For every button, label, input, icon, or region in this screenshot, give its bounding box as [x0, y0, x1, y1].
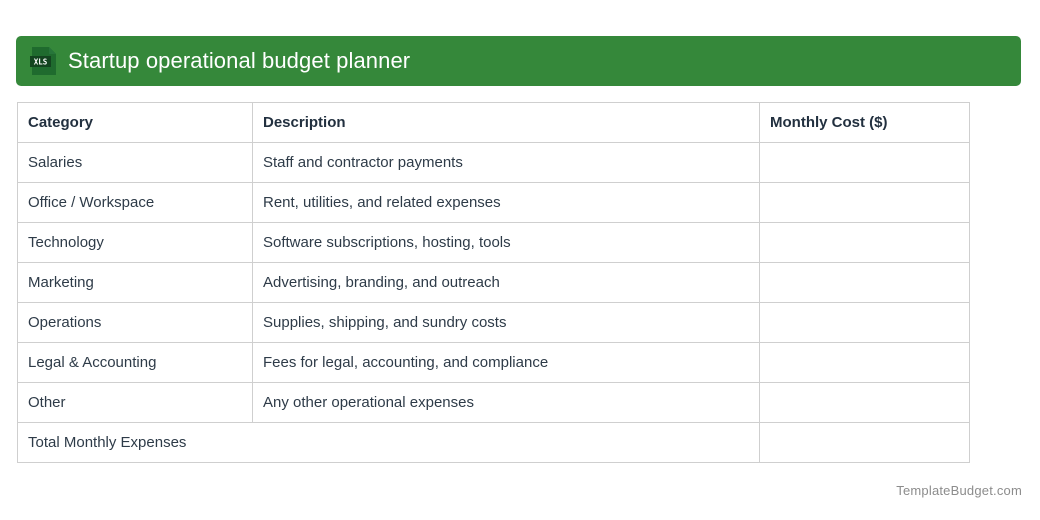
cell-description: Software subscriptions, hosting, tools [253, 223, 760, 263]
cell-category: Operations [18, 303, 253, 343]
cell-description: Fees for legal, accounting, and complian… [253, 343, 760, 383]
table-row: Operations Supplies, shipping, and sundr… [18, 303, 970, 343]
table-row: Marketing Advertising, branding, and out… [18, 263, 970, 303]
table-row: Office / Workspace Rent, utilities, and … [18, 183, 970, 223]
xls-file-icon: XLS [30, 46, 58, 76]
cell-total-label: Total Monthly Expenses [18, 423, 760, 463]
document-header-banner: XLS Startup operational budget planner [16, 36, 1021, 86]
table-header: Category Description Monthly Cost ($) [18, 103, 970, 143]
column-header-monthly-cost: Monthly Cost ($) [760, 103, 970, 143]
table-body: Salaries Staff and contractor payments O… [18, 143, 970, 463]
budget-template-page: XLS Startup operational budget planner C… [0, 0, 1040, 520]
footer-brand: TemplateBudget.com [896, 483, 1022, 498]
cell-description: Rent, utilities, and related expenses [253, 183, 760, 223]
cell-total-monthly-cost[interactable] [760, 423, 970, 463]
cell-monthly-cost[interactable] [760, 383, 970, 423]
svg-text:XLS: XLS [34, 58, 48, 67]
cell-monthly-cost[interactable] [760, 303, 970, 343]
cell-monthly-cost[interactable] [760, 223, 970, 263]
page-title: Startup operational budget planner [68, 50, 410, 72]
cell-monthly-cost[interactable] [760, 263, 970, 303]
budget-table: Category Description Monthly Cost ($) Sa… [17, 102, 970, 463]
cell-category: Marketing [18, 263, 253, 303]
table-row: Technology Software subscriptions, hosti… [18, 223, 970, 263]
cell-monthly-cost[interactable] [760, 183, 970, 223]
cell-category: Technology [18, 223, 253, 263]
column-header-description: Description [253, 103, 760, 143]
table-row: Other Any other operational expenses [18, 383, 970, 423]
cell-description: Advertising, branding, and outreach [253, 263, 760, 303]
cell-category: Salaries [18, 143, 253, 183]
table-row: Legal & Accounting Fees for legal, accou… [18, 343, 970, 383]
table-total-row: Total Monthly Expenses [18, 423, 970, 463]
cell-description: Any other operational expenses [253, 383, 760, 423]
cell-category: Office / Workspace [18, 183, 253, 223]
cell-monthly-cost[interactable] [760, 143, 970, 183]
column-header-category: Category [18, 103, 253, 143]
cell-description: Supplies, shipping, and sundry costs [253, 303, 760, 343]
table-header-row: Category Description Monthly Cost ($) [18, 103, 970, 143]
table-row: Salaries Staff and contractor payments [18, 143, 970, 183]
cell-category: Other [18, 383, 253, 423]
cell-monthly-cost[interactable] [760, 343, 970, 383]
cell-description: Staff and contractor payments [253, 143, 760, 183]
cell-category: Legal & Accounting [18, 343, 253, 383]
